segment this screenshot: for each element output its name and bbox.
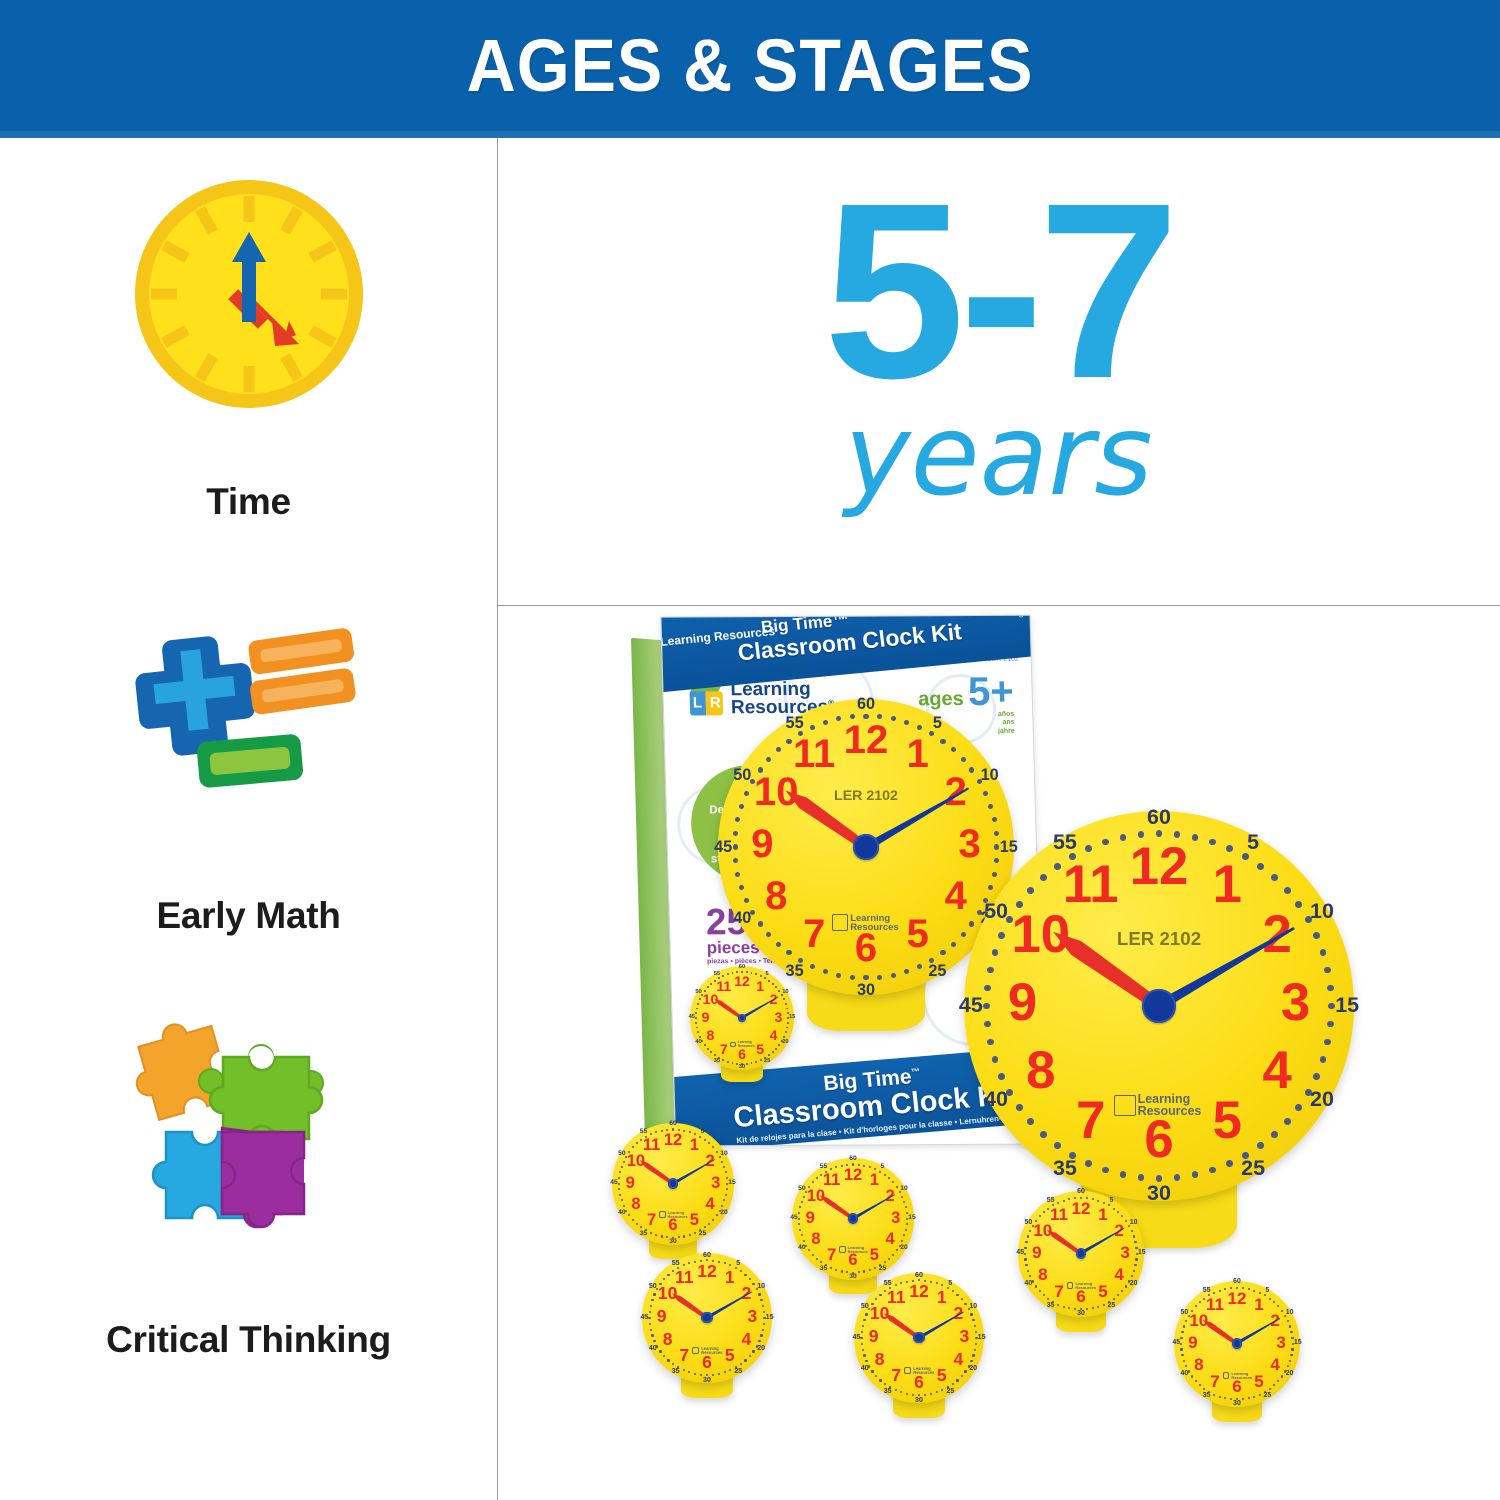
hour-number: 4 xyxy=(1262,1356,1289,1373)
hour-number: 9 xyxy=(797,1210,823,1227)
hour-number: 9 xyxy=(1023,1244,1050,1261)
clock-brand-logo: LearningResources xyxy=(839,1246,868,1253)
hour-number: 3 xyxy=(738,1308,766,1326)
minute-tick xyxy=(904,720,909,725)
minute-tick xyxy=(850,975,855,980)
lr-cube-icon xyxy=(1067,1282,1074,1289)
minute-number: 30 xyxy=(699,1377,715,1384)
minute-tick xyxy=(924,1394,926,1396)
minute-tick xyxy=(1063,1306,1065,1308)
clock-hub xyxy=(701,1312,712,1323)
hour-number: 9 xyxy=(730,825,794,865)
minute-tick xyxy=(1284,887,1291,894)
hour-number: 8 xyxy=(744,877,808,917)
minute-tick xyxy=(912,1394,914,1396)
hour-number: 11 xyxy=(638,1137,664,1154)
clock-brand-logo: LearningResources xyxy=(692,1347,722,1355)
minute-tick xyxy=(1320,1056,1327,1063)
box-top-ages: ages 5+ xyxy=(1010,615,1045,623)
minute-tick xyxy=(904,969,909,974)
hour-number: 11 xyxy=(1049,859,1133,912)
hour-number: 1 xyxy=(861,1172,887,1189)
minute-tick xyxy=(739,804,744,809)
minute-tick xyxy=(1209,1167,1216,1174)
minute-number: 25 xyxy=(761,1059,774,1065)
minute-tick xyxy=(1102,839,1109,846)
hour-number: 8 xyxy=(654,1331,682,1349)
minute-tick xyxy=(1138,1174,1145,1181)
clock-brand-logo: LearningResources xyxy=(904,1367,934,1375)
minute-tick xyxy=(956,1379,958,1381)
minute-number: 5 xyxy=(695,1129,710,1136)
hour-number: 4 xyxy=(762,1028,784,1042)
student-clock: 60510152025303540455055121234567891011Le… xyxy=(850,1266,988,1438)
minute-number: 60 xyxy=(846,1156,861,1163)
minute-number: 35 xyxy=(1041,1158,1088,1179)
clock-brand-name: LearningResources xyxy=(701,1347,722,1355)
minute-number: 25 xyxy=(730,1368,746,1375)
minute-number: 25 xyxy=(695,1231,710,1238)
lr-cube-icon xyxy=(832,914,848,930)
hour-number: 8 xyxy=(1185,1356,1212,1373)
clock-hub xyxy=(848,1213,858,1223)
box-cover-mini-clock: 60510152025303540455055121234567891011Le… xyxy=(684,956,804,1106)
minute-tick xyxy=(725,1194,727,1196)
box-top-ages-value: 5+ xyxy=(1034,615,1045,620)
minute-number: 35 xyxy=(1199,1393,1214,1400)
hour-number: 9 xyxy=(648,1308,676,1326)
minute-tick xyxy=(650,1329,652,1331)
hour-number: 3 xyxy=(767,1010,789,1024)
minute-tick xyxy=(707,986,709,988)
student-clock: 60510152025303540455055121234567891011Le… xyxy=(1170,1274,1304,1440)
header-underline xyxy=(0,131,1500,138)
hour-number: 4 xyxy=(697,1196,723,1213)
minute-number: 30 xyxy=(911,1397,927,1404)
minute-number: 60 xyxy=(1229,1279,1244,1286)
clock-brand-logo: LearningResources xyxy=(1067,1282,1096,1290)
hour-number: 9 xyxy=(860,1328,888,1346)
page-title: AGES & STAGES xyxy=(467,23,1034,108)
minute-tick xyxy=(619,1194,621,1196)
hour-number: 3 xyxy=(950,1328,978,1346)
minute-number: 30 xyxy=(736,1065,749,1071)
minute-tick xyxy=(776,747,781,752)
minute-tick xyxy=(992,949,999,956)
hour-number: 11 xyxy=(818,1172,844,1189)
minute-tick xyxy=(760,1334,762,1336)
minute-tick xyxy=(760,1299,762,1301)
lr-cube-icon xyxy=(839,1246,846,1253)
minute-tick xyxy=(776,942,781,947)
feature-item-time: Time xyxy=(0,178,497,523)
clock-model-code: LER 2102 xyxy=(964,928,1354,950)
hour-number: 4 xyxy=(732,1331,760,1349)
minute-tick xyxy=(987,1039,994,1046)
hour-number: 11 xyxy=(1201,1296,1228,1313)
minute-tick xyxy=(689,1234,691,1236)
minute-tick xyxy=(841,1270,843,1272)
minute-number: 5 xyxy=(1229,832,1276,853)
minute-number: 25 xyxy=(942,1388,958,1395)
hour-number: 8 xyxy=(699,1028,721,1042)
hour-number: 3 xyxy=(1267,1334,1294,1351)
minute-tick xyxy=(772,1051,774,1053)
age-range-value: 5-7 xyxy=(487,166,1500,416)
minute-tick xyxy=(823,720,828,725)
hour-number: 1 xyxy=(1245,1296,1272,1313)
minute-tick xyxy=(1289,1360,1291,1362)
clock-brand-name: LearningResources xyxy=(1138,1094,1202,1118)
hour-number: 9 xyxy=(694,1010,716,1024)
minute-tick xyxy=(707,1048,709,1050)
minute-tick xyxy=(1219,1290,1221,1292)
hour-number: 4 xyxy=(1106,1266,1133,1283)
minute-number: 35 xyxy=(880,1388,896,1395)
minute-number: 60 xyxy=(666,1121,681,1128)
minute-tick xyxy=(762,1329,764,1331)
feature-list: Time xyxy=(0,138,497,1500)
minute-number: 60 xyxy=(699,1252,715,1259)
minute-tick xyxy=(1039,1290,1041,1292)
minute-tick xyxy=(1271,1131,1278,1138)
product-photo: LER 2102 LR LearningResources® ages 5+ xyxy=(498,606,1500,1500)
minute-tick xyxy=(712,1374,714,1376)
minute-tick xyxy=(1192,834,1199,841)
hour-number: 11 xyxy=(670,1269,698,1287)
hour-number: 10 xyxy=(699,992,721,1006)
minute-tick xyxy=(1209,839,1216,846)
minute-tick xyxy=(930,1393,932,1395)
minute-tick xyxy=(718,1373,720,1375)
hour-number: 9 xyxy=(980,977,1064,1030)
hour-number: 3 xyxy=(703,1175,729,1192)
student-clock: 60510152025303540455055121234567891011Le… xyxy=(638,1246,776,1418)
lr-cube-icon xyxy=(659,1211,666,1218)
minute-tick xyxy=(972,1319,974,1321)
clock-brand-logo: LearningResources xyxy=(730,1041,755,1047)
hour-number: 11 xyxy=(782,735,846,775)
minute-number: 60 xyxy=(848,696,884,712)
hour-number: 11 xyxy=(882,1289,910,1307)
minute-number: 30 xyxy=(666,1239,681,1246)
clock-brand-logo: LearningResources xyxy=(832,914,899,932)
hour-number: 1 xyxy=(886,735,950,775)
hour-number: 8 xyxy=(866,1351,894,1369)
minute-number: 5 xyxy=(920,715,956,731)
minute-tick xyxy=(877,975,882,980)
minute-number: 60 xyxy=(1135,807,1182,828)
minute-tick xyxy=(744,1274,746,1276)
puzzle-pieces-icon xyxy=(124,1018,374,1248)
clock-brand-name: LearningResources xyxy=(1075,1282,1096,1290)
minute-tick xyxy=(836,973,841,978)
feature-label-early-math: Early Math xyxy=(0,894,497,937)
minute-tick xyxy=(755,1061,757,1063)
hour-number: 8 xyxy=(803,1231,829,1248)
minute-tick xyxy=(727,973,729,975)
clock-hub xyxy=(853,834,878,859)
clock-brand-name: LearningResources xyxy=(738,1041,755,1047)
minute-number: 5 xyxy=(875,1164,890,1171)
minute-tick xyxy=(1248,1397,1250,1399)
minute-tick xyxy=(972,1354,974,1356)
minute-tick xyxy=(1133,1235,1135,1237)
minute-number: 35 xyxy=(636,1231,651,1238)
minute-tick xyxy=(632,1219,634,1221)
minute-tick xyxy=(785,1031,787,1033)
minute-number: 35 xyxy=(816,1266,831,1273)
hour-number: 8 xyxy=(1029,1266,1056,1283)
minute-tick xyxy=(1219,1396,1221,1398)
minute-tick xyxy=(974,1349,976,1351)
feature-label-critical-thinking: Critical Thinking xyxy=(0,1318,497,1361)
minute-number: 30 xyxy=(1229,1401,1244,1408)
feature-label-time: Time xyxy=(0,480,497,523)
minute-number: 55 xyxy=(711,972,724,978)
minute-tick xyxy=(1195,1380,1197,1382)
minute-tick xyxy=(683,1235,685,1237)
minute-tick xyxy=(1290,1331,1292,1333)
minute-tick xyxy=(661,1235,663,1237)
hour-number: 1 xyxy=(681,1137,707,1154)
minute-tick xyxy=(1040,874,1047,881)
minute-tick xyxy=(1027,1118,1034,1125)
hour-number: 8 xyxy=(999,1045,1083,1098)
clock-brand-name: LearningResources xyxy=(1231,1372,1252,1380)
minute-tick xyxy=(785,1003,787,1005)
ages-and-stages-infographic: AGES & STAGES xyxy=(0,0,1500,1500)
minute-number: 35 xyxy=(668,1368,684,1375)
minute-tick xyxy=(956,1294,958,1296)
clock-brand-name: LearningResources xyxy=(913,1367,934,1375)
age-range-unit: years xyxy=(497,400,1500,512)
minute-number: 5 xyxy=(1260,1288,1275,1295)
minute-tick xyxy=(775,1048,777,1050)
clock-brand-name: LearningResources xyxy=(850,914,898,932)
clock-brand-logo: LearningResources xyxy=(1114,1094,1201,1118)
minute-number: 25 xyxy=(1229,1158,1276,1179)
hour-number: 1 xyxy=(928,1289,956,1307)
minute-tick xyxy=(1156,830,1163,837)
hour-number: 4 xyxy=(1235,1045,1319,1098)
minute-tick xyxy=(992,1056,999,1063)
hour-number: 4 xyxy=(944,1351,972,1369)
hour-number: 3 xyxy=(1253,977,1337,1030)
minute-tick xyxy=(812,1254,814,1256)
hour-number: 1 xyxy=(716,1269,744,1287)
minute-tick xyxy=(1027,887,1034,894)
minute-tick xyxy=(739,885,744,890)
lr-cube-icon xyxy=(1223,1372,1230,1379)
hour-number: 8 xyxy=(623,1196,649,1213)
hour-number: 11 xyxy=(713,979,735,993)
minute-tick xyxy=(1284,1118,1291,1125)
minute-tick xyxy=(700,1374,702,1376)
hour-number: 9 xyxy=(617,1175,643,1192)
header-bar: AGES & STAGES xyxy=(0,0,1500,131)
lr-cube-icon xyxy=(904,1367,911,1374)
minute-tick xyxy=(987,967,994,974)
minute-number: 30 xyxy=(1073,1311,1088,1318)
minute-tick xyxy=(744,1359,746,1361)
clock-icon xyxy=(133,178,365,410)
minute-tick xyxy=(891,973,896,978)
minute-number: 25 xyxy=(920,963,956,979)
minute-tick xyxy=(869,1166,871,1168)
minute-number: 55 xyxy=(777,715,813,731)
student-clock: 60510152025303540455055121234567891011Le… xyxy=(1014,1184,1148,1350)
minute-tick xyxy=(1271,874,1278,881)
age-range-panel: 5-7 years xyxy=(497,138,1500,605)
minute-tick xyxy=(1040,1131,1047,1138)
hour-number: 11 xyxy=(1045,1206,1072,1223)
minute-tick xyxy=(862,1349,864,1351)
minute-tick xyxy=(1092,1307,1094,1309)
minute-number: 55 xyxy=(1199,1288,1214,1295)
clock-brand-logo: LearningResources xyxy=(659,1211,688,1218)
minute-tick xyxy=(689,1131,691,1133)
minute-tick xyxy=(1133,1270,1135,1272)
minute-number: 60 xyxy=(736,965,749,971)
minute-tick xyxy=(905,1229,907,1231)
minute-number: 35 xyxy=(711,1059,724,1065)
minute-number: 55 xyxy=(1041,832,1088,853)
hour-number: 1 xyxy=(1089,1206,1116,1223)
minute-number: 5 xyxy=(761,972,774,978)
minute-number: 5 xyxy=(1104,1198,1119,1205)
minute-number: 55 xyxy=(636,1129,651,1136)
minute-tick xyxy=(1181,1331,1183,1333)
clock-brand-logo: LearningResources xyxy=(1223,1372,1252,1380)
clock-brand-name: LearningResources xyxy=(848,1246,868,1253)
clock-hub xyxy=(1142,989,1175,1022)
minute-tick xyxy=(862,1325,864,1327)
clock-brand-name: LearningResources xyxy=(668,1211,688,1218)
minute-number: 55 xyxy=(816,1164,831,1171)
clock-hub xyxy=(913,1332,924,1343)
minute-number: 60 xyxy=(911,1272,927,1279)
minute-tick xyxy=(961,757,966,762)
hour-number: 3 xyxy=(1111,1244,1138,1261)
minute-tick xyxy=(1289,1325,1291,1327)
lr-cube-icon xyxy=(730,1042,736,1048)
minute-number: 30 xyxy=(848,982,884,998)
lr-cube-icon xyxy=(1114,1095,1135,1116)
minute-number: 35 xyxy=(1043,1303,1058,1310)
hour-number: 1 xyxy=(749,979,771,993)
minute-number: 25 xyxy=(1260,1393,1275,1400)
minute-number: 25 xyxy=(1104,1303,1119,1310)
hour-number: 9 xyxy=(1179,1334,1206,1351)
feature-item-early-math: Early Math xyxy=(0,616,497,937)
minute-number: 60 xyxy=(1073,1189,1088,1196)
minute-tick xyxy=(799,1229,801,1231)
minute-number: 55 xyxy=(1043,1198,1058,1205)
hour-number: 3 xyxy=(883,1210,909,1227)
math-symbols-icon xyxy=(124,616,374,816)
minute-tick xyxy=(1025,1241,1027,1243)
lr-cube-icon xyxy=(692,1347,699,1354)
minute-tick xyxy=(1063,1200,1065,1202)
clock-hub xyxy=(668,1178,678,1188)
minute-tick xyxy=(650,1305,652,1307)
minute-tick xyxy=(1134,1241,1136,1243)
hour-number: 4 xyxy=(877,1231,903,1248)
minute-tick xyxy=(766,757,771,762)
minute-tick xyxy=(772,983,774,985)
minute-tick xyxy=(1120,834,1127,841)
feature-item-critical-thinking: Critical Thinking xyxy=(0,1018,497,1361)
hour-number: 1 xyxy=(1185,859,1269,912)
minute-tick xyxy=(727,1061,729,1063)
